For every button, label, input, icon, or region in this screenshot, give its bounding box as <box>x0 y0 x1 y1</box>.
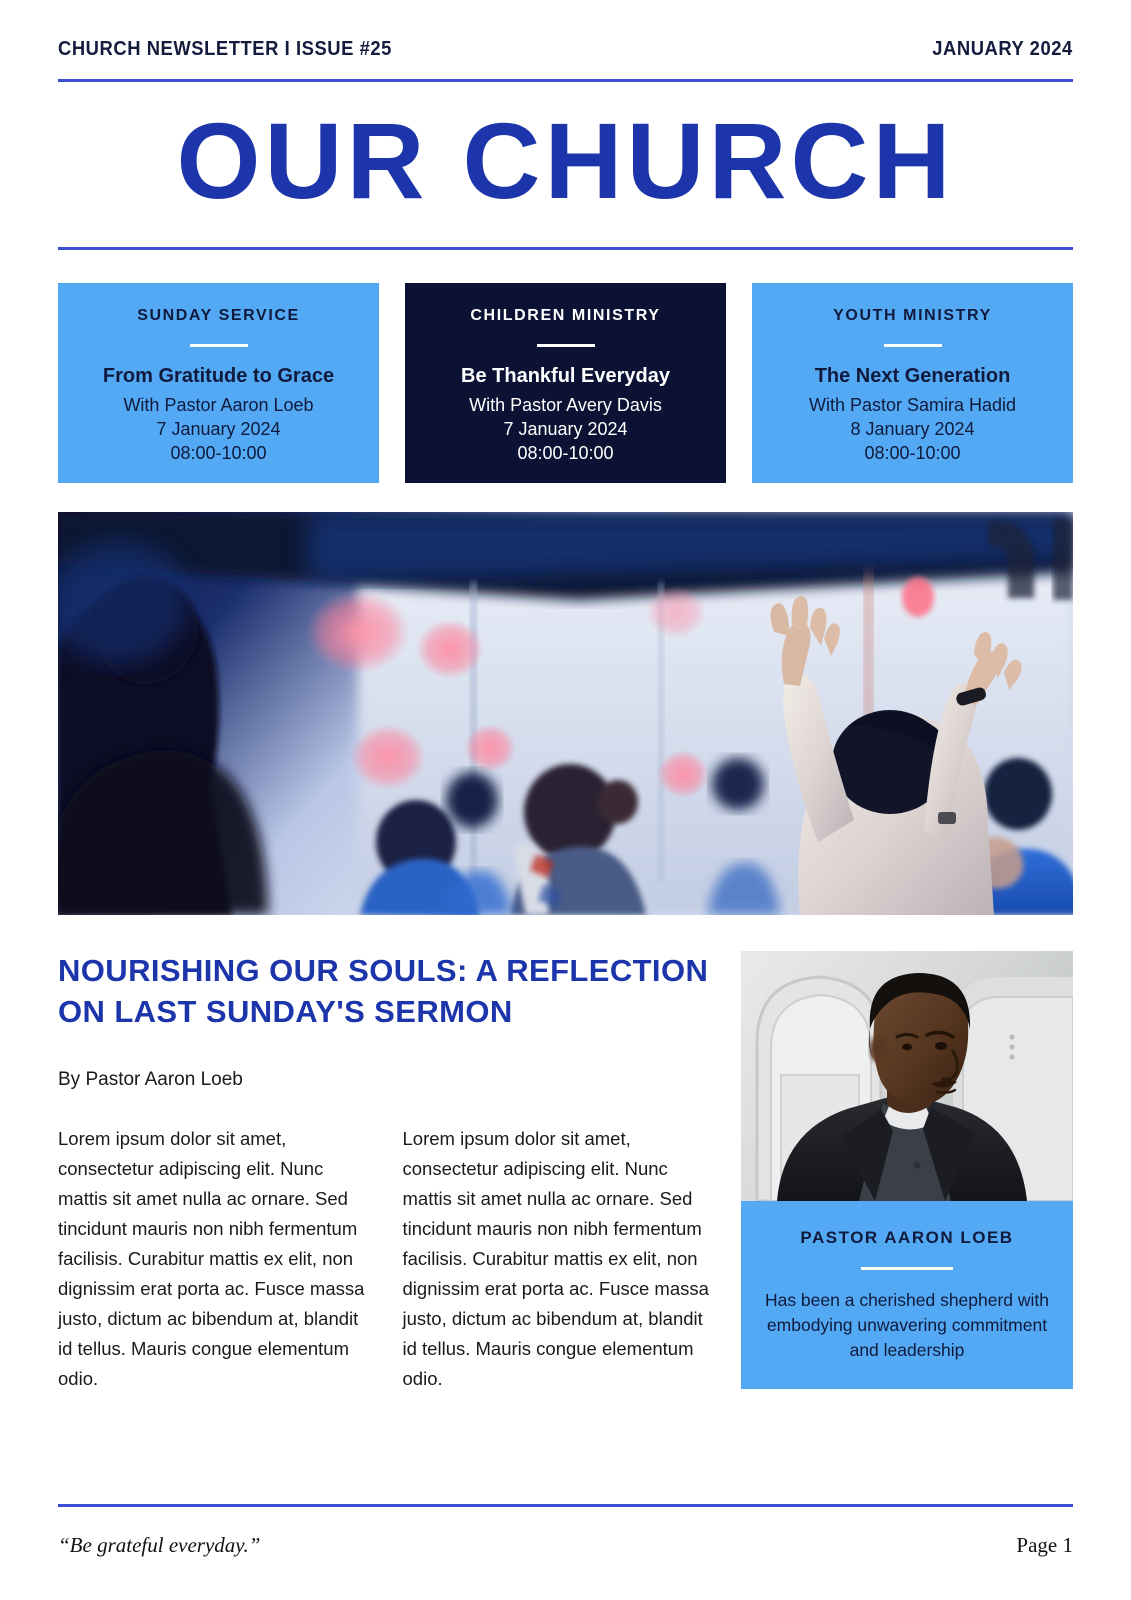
newsletter-page: CHURCH NEWSLETTER I ISSUE #25 JANUARY 20… <box>0 0 1131 1600</box>
footer-page-number: Page 1 <box>1016 1533 1073 1558</box>
hero-photo <box>58 512 1073 915</box>
event-card-date: 7 January 2024 <box>156 418 280 442</box>
newsletter-topbar: CHURCH NEWSLETTER I ISSUE #25 JANUARY 20… <box>58 0 1073 61</box>
article-section: NOURISHING OUR SOULS: A REFLECTION ON LA… <box>58 951 1073 1394</box>
event-card-kicker: SUNDAY SERVICE <box>137 307 300 325</box>
pastor-bio: PASTOR AARON LOEB Has been a cherished s… <box>741 1201 1073 1389</box>
pastor-name: PASTOR AARON LOEB <box>759 1228 1055 1248</box>
article-column-left: Lorem ipsum dolor sit amet, consectetur … <box>58 1124 371 1394</box>
article-byline: By Pastor Aaron Loeb <box>58 1069 715 1091</box>
article-column-right: Lorem ipsum dolor sit amet, consectetur … <box>403 1124 716 1394</box>
event-card-speaker: With Pastor Avery Davis <box>469 394 662 418</box>
footer-quote: “Be grateful everyday.” <box>58 1533 260 1558</box>
publication-label: CHURCH NEWSLETTER I ISSUE #25 <box>58 38 392 61</box>
event-card-time: 08:00-10:00 <box>864 442 960 466</box>
event-card-kicker: YOUTH MINISTRY <box>833 307 992 325</box>
newsletter-footer: “Be grateful everyday.” Page 1 <box>58 1504 1073 1558</box>
event-card-children-ministry[interactable]: CHILDREN MINISTRY Be Thankful Everyday W… <box>405 283 726 483</box>
event-card-divider <box>190 344 248 347</box>
pastor-divider <box>861 1267 953 1270</box>
article-main: NOURISHING OUR SOULS: A REFLECTION ON LA… <box>58 951 715 1394</box>
event-card-divider <box>537 344 595 347</box>
event-card-speaker: With Pastor Aaron Loeb <box>123 394 313 418</box>
event-card-title: Be Thankful Everyday <box>461 364 670 389</box>
article-columns: Lorem ipsum dolor sit amet, consectetur … <box>58 1124 715 1394</box>
event-card-youth-ministry[interactable]: YOUTH MINISTRY The Next Generation With … <box>752 283 1073 483</box>
event-card-title: From Gratitude to Grace <box>103 364 334 389</box>
event-card-date: 7 January 2024 <box>503 418 627 442</box>
divider-footer <box>58 1504 1073 1507</box>
article-headline: NOURISHING OUR SOULS: A REFLECTION ON LA… <box>58 951 715 1033</box>
event-card-row: SUNDAY SERVICE From Gratitude to Grace W… <box>58 283 1073 483</box>
event-card-kicker: CHILDREN MINISTRY <box>470 307 660 325</box>
event-card-date: 8 January 2024 <box>850 418 974 442</box>
hero-photo-illustration <box>58 512 1073 915</box>
pastor-photo-illustration <box>741 951 1073 1201</box>
event-card-divider <box>884 344 942 347</box>
pastor-photo <box>741 951 1073 1201</box>
pastor-description: Has been a cherished shepherd with embod… <box>759 1288 1055 1363</box>
issue-date-label: JANUARY 2024 <box>932 38 1073 61</box>
event-card-sunday-service[interactable]: SUNDAY SERVICE From Gratitude to Grace W… <box>58 283 379 483</box>
masthead-title: OUR CHURCH <box>58 104 1073 217</box>
event-card-time: 08:00-10:00 <box>517 442 613 466</box>
divider-under-masthead <box>58 247 1073 250</box>
pastor-profile-card: PASTOR AARON LOEB Has been a cherished s… <box>741 951 1073 1394</box>
event-card-title: The Next Generation <box>815 364 1011 389</box>
event-card-time: 08:00-10:00 <box>170 442 266 466</box>
masthead: OUR CHURCH <box>58 82 1073 231</box>
event-card-speaker: With Pastor Samira Hadid <box>809 394 1016 418</box>
